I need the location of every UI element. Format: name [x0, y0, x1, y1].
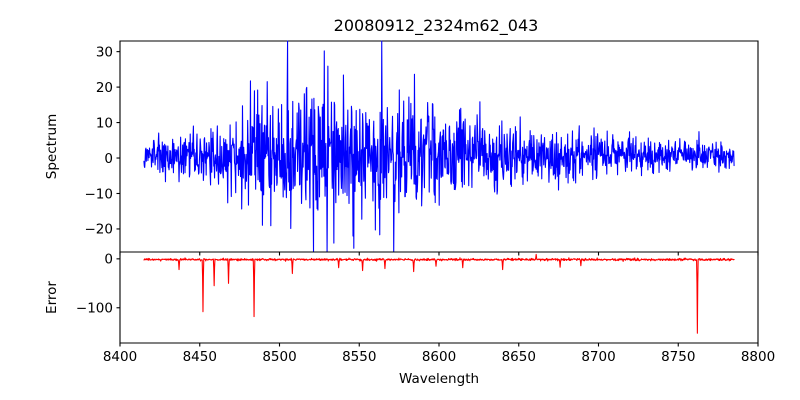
- x-tick-label: 8800: [741, 349, 775, 365]
- x-axis-label: Wavelength: [399, 371, 479, 387]
- y-tick-label: −100: [76, 301, 113, 317]
- x-tick-label: 8550: [342, 349, 376, 365]
- x-tick-label: 8500: [262, 349, 296, 365]
- figure-canvas: 20080912_2324m62_043 3020100−10−20Spectr…: [0, 0, 800, 400]
- y-tick-label: 0: [104, 252, 113, 268]
- x-tick-label: 8400: [103, 349, 137, 365]
- y-tick-label: 20: [96, 80, 113, 96]
- spectrum-panel: 3020100−10−20Spectrum: [44, 41, 758, 256]
- y-tick-label: 0: [104, 151, 113, 167]
- figure-title: 20080912_2324m62_043: [334, 16, 539, 36]
- y-tick-label: −20: [85, 222, 114, 238]
- y-tick-label: 30: [96, 44, 113, 60]
- spectrum-series: [144, 41, 734, 252]
- y-tick-label: −10: [85, 186, 114, 202]
- x-tick-label: 8650: [502, 349, 536, 365]
- x-tick-label: 8700: [581, 349, 615, 365]
- x-tick-label: 8600: [422, 349, 456, 365]
- plot-svg: 20080912_2324m62_043 3020100−10−20Spectr…: [0, 0, 800, 400]
- error-series: [144, 254, 734, 333]
- error-panel: 8400845085008550860086508700875088000−10…: [44, 252, 775, 365]
- y-tick-label: 10: [96, 115, 113, 131]
- error-axis-label: Error: [44, 281, 60, 314]
- spectrum-axis-label: Spectrum: [44, 114, 60, 179]
- x-tick-label: 8750: [661, 349, 695, 365]
- x-tick-label: 8450: [183, 349, 217, 365]
